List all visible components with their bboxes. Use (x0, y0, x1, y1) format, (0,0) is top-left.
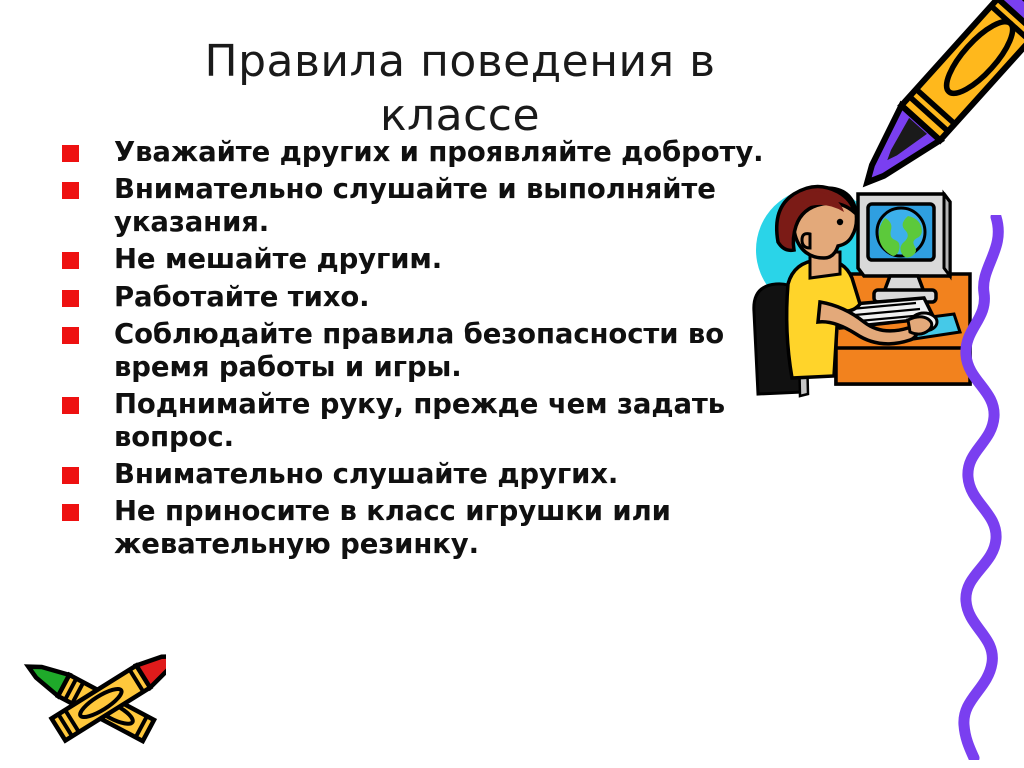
rules-list: Уважайте других и проявляйте доброту. Вн… (50, 136, 790, 565)
bullet-square-icon (62, 397, 79, 414)
slide-canvas: Правила поведения в классе Уважайте друг… (0, 0, 1024, 768)
list-item: Поднимайте руку, прежде чем задать вопро… (50, 388, 790, 453)
list-item-label: Не мешайте другим. (114, 243, 442, 275)
list-item-label: Работайте тихо. (114, 281, 370, 313)
list-item-label: Внимательно слушайте других. (114, 458, 618, 490)
bullet-square-icon (62, 504, 79, 521)
list-item-label: Соблюдайте правила безопасности во время… (114, 318, 724, 382)
list-item: Внимательно слушайте и выполняйте указан… (50, 173, 790, 238)
list-item-label: Уважайте других и проявляйте доброту. (114, 136, 764, 168)
purple-scribble-line-icon (940, 215, 1024, 760)
bullet-square-icon (62, 182, 79, 199)
list-item: Уважайте других и проявляйте доброту. (50, 136, 790, 168)
list-item: Соблюдайте правила безопасности во время… (50, 318, 790, 383)
bullet-square-icon (62, 252, 79, 269)
list-item-label: Внимательно слушайте и выполняйте указан… (114, 173, 716, 237)
list-item: Не приносите в класс игрушки или жевател… (50, 495, 790, 560)
orange-crayon-icon (836, 0, 1024, 236)
list-item: Не мешайте другим. (50, 243, 790, 275)
two-crossed-crayons-icon (6, 648, 166, 768)
bullet-square-icon (62, 327, 79, 344)
list-item: Работайте тихо. (50, 281, 790, 313)
page-title: Правила поведения в классе (150, 35, 770, 142)
list-item-label: Не приносите в класс игрушки или жевател… (114, 495, 671, 559)
list-item-label: Поднимайте руку, прежде чем задать вопро… (114, 388, 725, 452)
bullet-square-icon (62, 290, 79, 307)
list-item: Внимательно слушайте других. (50, 458, 790, 490)
bullet-square-icon (62, 467, 79, 484)
bullet-square-icon (62, 145, 79, 162)
